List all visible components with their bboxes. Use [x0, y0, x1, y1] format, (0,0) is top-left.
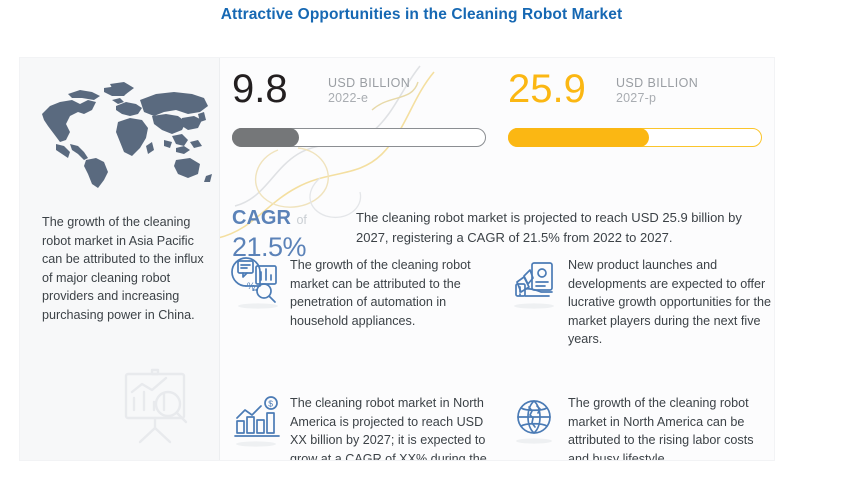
- sidebar-description: The growth of the cleaning robot market …: [42, 213, 208, 324]
- list-item-text: The cleaning robot market in North Ameri…: [290, 392, 496, 461]
- stat-forecast-value: 25.9: [508, 66, 586, 112]
- list-item: $ The cleaning robot market in North Ame…: [230, 392, 496, 461]
- globe-icon: [508, 394, 564, 450]
- stat-forecast-progress-fill: [508, 128, 649, 147]
- list-item-text: New product launches and developments ar…: [568, 254, 775, 349]
- svg-text:$: $: [268, 399, 273, 409]
- stat-current-progress-bar: [232, 128, 486, 147]
- hand-holding-product-icon: [508, 256, 564, 312]
- stat-forecast-progress-bar: [508, 128, 762, 147]
- list-item: New product launches and developments ar…: [508, 254, 775, 349]
- stats-row: 9.8 USD BILLION 2022-e 25.9 USD BILLION …: [220, 58, 775, 208]
- page-title: Attractive Opportunities in the Cleaning…: [0, 6, 843, 24]
- stat-forecast-period: 2027-p: [616, 91, 656, 106]
- stat-current-period: 2022-e: [328, 91, 368, 106]
- world-map-icon: [26, 80, 214, 200]
- chart-magnifier-icon: [112, 358, 204, 450]
- lead-description: The cleaning robot market is projected t…: [356, 208, 756, 248]
- list-item: The growth of the cleaning robot market …: [508, 392, 775, 461]
- insight-cards: % The growth of the cleaning robot marke…: [220, 254, 775, 461]
- cagr-label-row: CAGR of: [232, 206, 344, 232]
- region-sidebar: The growth of the cleaning robot market …: [20, 58, 220, 461]
- growth-bar-chart-dollar-icon: $: [230, 394, 286, 450]
- stat-current-value: 9.8: [232, 66, 288, 112]
- cagr-label: CAGR: [232, 207, 291, 229]
- stat-forecast-unit: USD BILLION: [616, 76, 698, 91]
- infographic-panel: The growth of the cleaning robot market …: [19, 57, 775, 461]
- list-item: % The growth of the cleaning robot marke…: [230, 254, 496, 330]
- stat-current-unit: USD BILLION: [328, 76, 410, 91]
- list-item-text: The growth of the cleaning robot market …: [290, 254, 496, 330]
- pie-bar-chart-magnifier-icon: %: [230, 256, 286, 312]
- stat-current-progress-fill: [232, 128, 299, 147]
- list-item-text: The growth of the cleaning robot market …: [568, 392, 775, 461]
- cagr-of-label: of: [296, 213, 306, 227]
